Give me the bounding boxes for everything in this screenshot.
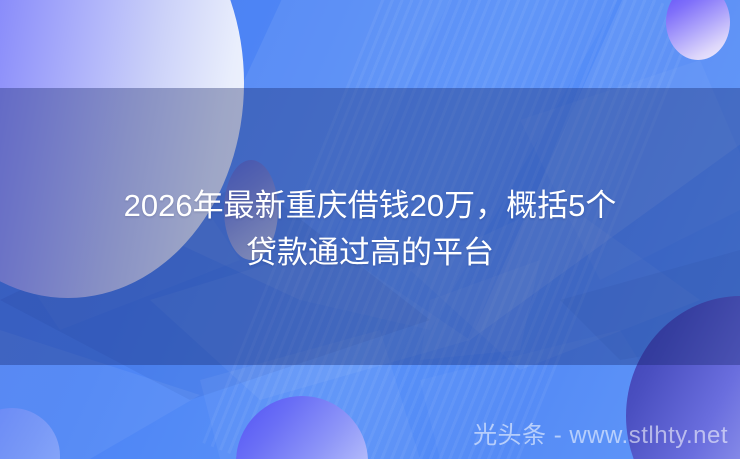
promo-banner: 2026年最新重庆借钱20万，概括5个 贷款通过高的平台 光头条 - www.s… <box>0 0 740 459</box>
title-line-1: 2026年最新重庆借钱20万，概括5个 <box>28 182 712 229</box>
banner-title: 2026年最新重庆借钱20万，概括5个 贷款通过高的平台 <box>0 182 740 276</box>
site-watermark: 光头条 - www.stlhty.net <box>473 421 728 451</box>
title-line-2: 贷款通过高的平台 <box>28 229 712 276</box>
